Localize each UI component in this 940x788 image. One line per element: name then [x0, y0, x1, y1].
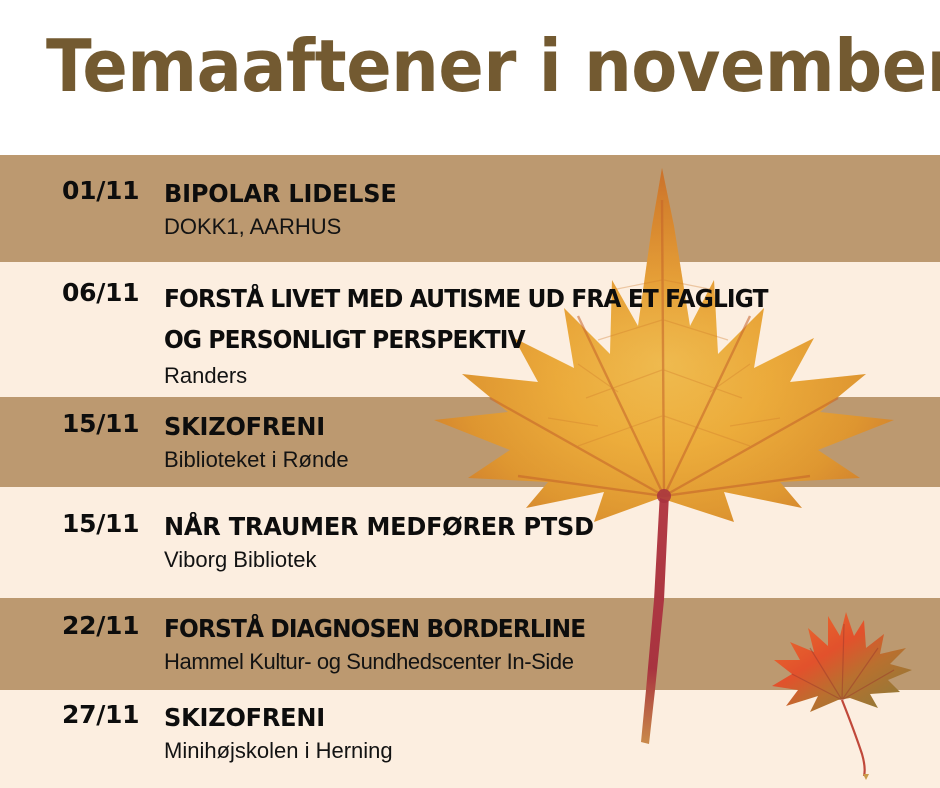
event-venue: Randers: [164, 361, 830, 391]
event-date: 22/11: [0, 611, 160, 640]
event-details: SKIZOFRENI Minihøjskolen i Herning: [160, 700, 940, 766]
event-row-3[interactable]: 15/11 SKIZOFRENI Biblioteket i Rønde: [0, 409, 940, 475]
header: Temaaftener i november: [0, 0, 940, 155]
event-details: SKIZOFRENI Biblioteket i Rønde: [160, 409, 940, 475]
event-venue: DOKK1, AARHUS: [164, 212, 940, 242]
event-title: SKIZOFRENI: [164, 700, 909, 735]
event-venue: Hammel Kultur- og Sundhedscenter In-Side: [164, 647, 940, 677]
event-row-2[interactable]: 06/11 FORSTÅ LIVET MED AUTISME UD FRA ET…: [0, 278, 830, 391]
event-details: BIPOLAR LIDELSE DOKK1, AARHUS: [160, 176, 940, 242]
event-details: FORSTÅ LIVET MED AUTISME UD FRA ET FAGLI…: [160, 278, 830, 391]
event-date: 15/11: [0, 509, 160, 538]
page-title: Temaaftener i november: [46, 26, 940, 106]
event-title: NÅR TRAUMER MEDFØRER PTSD: [164, 509, 909, 544]
poster-canvas: Temaaftener i november 01/11 BIPOLAR LID…: [0, 0, 940, 788]
event-venue: Biblioteket i Rønde: [164, 445, 940, 475]
event-venue: Viborg Bibliotek: [164, 545, 940, 575]
event-date: 15/11: [0, 409, 160, 438]
event-details: NÅR TRAUMER MEDFØRER PTSD Viborg Bibliot…: [160, 509, 940, 575]
event-title: FORSTÅ LIVET MED AUTISME UD FRA ET FAGLI…: [164, 278, 783, 360]
event-row-5[interactable]: 22/11 FORSTÅ DIAGNOSEN BORDERLINE Hammel…: [0, 611, 940, 677]
event-row-6[interactable]: 27/11 SKIZOFRENI Minihøjskolen i Herning: [0, 700, 940, 766]
event-title: BIPOLAR LIDELSE: [164, 176, 909, 211]
event-row-1[interactable]: 01/11 BIPOLAR LIDELSE DOKK1, AARHUS: [0, 176, 940, 242]
event-title: SKIZOFRENI: [164, 409, 909, 444]
event-venue: Minihøjskolen i Herning: [164, 736, 940, 766]
event-date: 06/11: [0, 278, 160, 307]
event-title: FORSTÅ DIAGNOSEN BORDERLINE: [164, 611, 886, 646]
event-date: 27/11: [0, 700, 160, 729]
event-row-4[interactable]: 15/11 NÅR TRAUMER MEDFØRER PTSD Viborg B…: [0, 509, 940, 575]
event-date: 01/11: [0, 176, 160, 205]
event-details: FORSTÅ DIAGNOSEN BORDERLINE Hammel Kultu…: [160, 611, 940, 677]
